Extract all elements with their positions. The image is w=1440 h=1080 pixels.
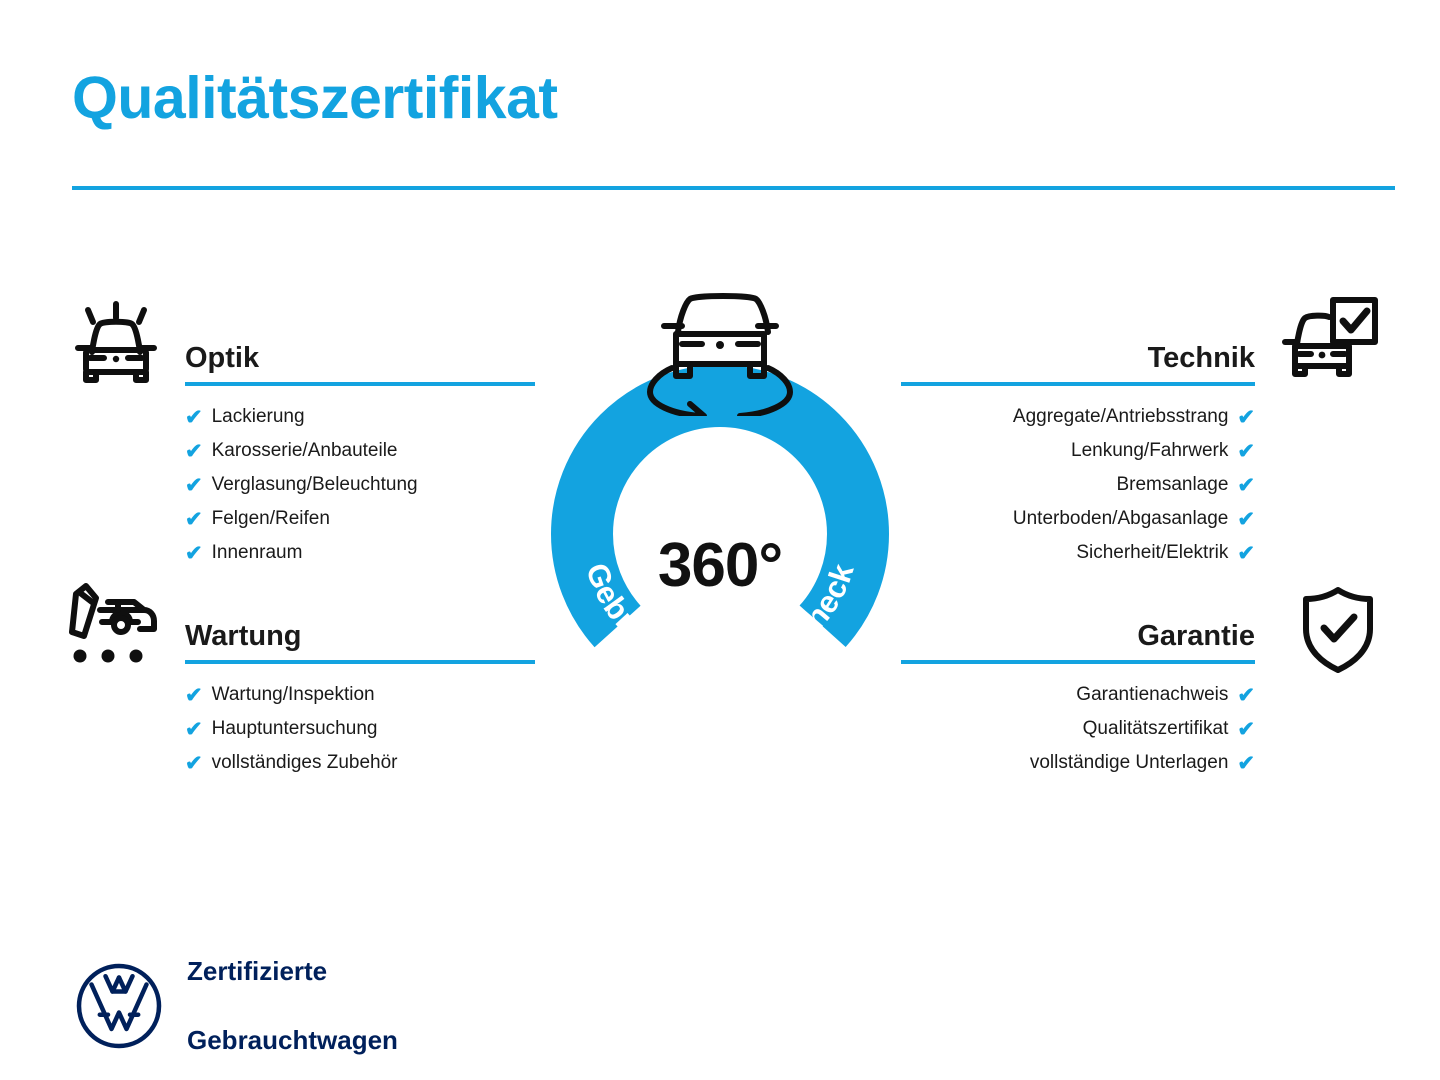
- list-item: ✔ Verglasung/Beleuchtung: [185, 468, 535, 502]
- list-item: Unterboden/Abgasanlage ✔: [901, 502, 1255, 536]
- list-item-label: Karosserie/Anbauteile: [212, 440, 398, 462]
- list-item: Qualitätszertifikat ✔: [901, 712, 1255, 746]
- section-rule-technik: [901, 382, 1255, 386]
- check-icon: ✔: [185, 753, 203, 774]
- check-icon: ✔: [1237, 475, 1255, 496]
- list-item: ✔ Innenraum: [185, 536, 535, 570]
- list-item: Bremsanlage ✔: [901, 468, 1255, 502]
- page-title: Qualitätszertifikat: [72, 68, 558, 130]
- section-title-optik: Optik: [185, 338, 535, 378]
- list-item-label: Aggregate/Antriebsstrang: [1013, 406, 1228, 428]
- section-rule-garantie: [901, 660, 1255, 664]
- list-item: Aggregate/Antriebsstrang ✔: [901, 400, 1255, 434]
- list-item: Sicherheit/Elektrik ✔: [901, 536, 1255, 570]
- list-item: Garantienachweis ✔: [901, 678, 1255, 712]
- list-item-label: Wartung/Inspektion: [212, 684, 375, 706]
- section-list-technik: Aggregate/Antriebsstrang ✔ Lenkung/Fahrw…: [901, 400, 1255, 570]
- list-item-label: Felgen/Reifen: [212, 508, 330, 530]
- list-item-label: Verglasung/Beleuchtung: [212, 474, 418, 496]
- list-item-label: Garantienachweis: [1076, 684, 1228, 706]
- list-item: Lenkung/Fahrwerk ✔: [901, 434, 1255, 468]
- section-optik: Optik ✔ Lackierung ✔ Karosserie/Anbautei…: [185, 338, 535, 570]
- list-item-label: vollständiges Zubehör: [212, 752, 398, 774]
- list-item: ✔ Karosserie/Anbauteile: [185, 434, 535, 468]
- certificate-page: Qualitätszertifikat Optik ✔ Lackierung: [0, 0, 1440, 1080]
- vw-text-line1: Zertifizierte: [187, 954, 398, 988]
- check-icon: ✔: [185, 407, 203, 428]
- section-list-optik: ✔ Lackierung ✔ Karosserie/Anbauteile ✔ V…: [185, 400, 535, 570]
- shield-check-icon: [1297, 584, 1379, 676]
- check-icon: ✔: [185, 719, 203, 740]
- check-icon: ✔: [185, 685, 203, 706]
- check-icon: ✔: [1237, 753, 1255, 774]
- section-title-wartung: Wartung: [185, 616, 535, 656]
- vw-logo: [75, 962, 163, 1050]
- car-shine-icon: [68, 296, 164, 388]
- vw-text-line2: Gebrauchtwagen: [187, 1023, 398, 1057]
- check-icon: ✔: [185, 441, 203, 462]
- check-icon: ✔: [1237, 407, 1255, 428]
- vw-certified-text: Zertifizierte Gebrauchtwagen: [187, 920, 398, 1080]
- badge-360-check: Gebrauchtwagen-Check 360°: [528, 286, 912, 690]
- section-header-garantie: Garantie: [901, 616, 1255, 664]
- list-item: ✔ Hauptuntersuchung: [185, 712, 535, 746]
- list-item-label: Bremsanlage: [1116, 474, 1228, 496]
- section-title-garantie: Garantie: [901, 616, 1255, 656]
- check-icon: ✔: [185, 475, 203, 496]
- list-item-label: Hauptuntersuchung: [212, 718, 378, 740]
- check-icon: ✔: [1237, 509, 1255, 530]
- section-technik: Technik Aggregate/Antriebsstrang ✔ Lenku…: [901, 338, 1255, 570]
- section-list-garantie: Garantienachweis ✔ Qualitätszertifikat ✔…: [901, 678, 1255, 780]
- check-icon: ✔: [1237, 719, 1255, 740]
- section-list-wartung: ✔ Wartung/Inspektion ✔ Hauptuntersuchung…: [185, 678, 535, 780]
- section-wartung: Wartung ✔ Wartung/Inspektion ✔ Hauptunte…: [185, 616, 535, 780]
- list-item-label: Lackierung: [212, 406, 305, 428]
- vw-certified-logo-block: Zertifizierte Gebrauchtwagen: [75, 920, 398, 1080]
- list-item-label: Qualitätszertifikat: [1083, 718, 1229, 740]
- section-title-technik: Technik: [901, 338, 1255, 378]
- list-item: ✔ vollständiges Zubehör: [185, 746, 535, 780]
- section-rule-wartung: [185, 660, 535, 664]
- check-icon: ✔: [185, 543, 203, 564]
- car-rotate-icon: [628, 286, 812, 416]
- section-rule-optik: [185, 382, 535, 386]
- section-header-technik: Technik: [901, 338, 1255, 386]
- title-divider: [72, 186, 1395, 190]
- check-icon: ✔: [1237, 441, 1255, 462]
- list-item: ✔ Lackierung: [185, 400, 535, 434]
- list-item: vollständige Unterlagen ✔: [901, 746, 1255, 780]
- list-item: ✔ Felgen/Reifen: [185, 502, 535, 536]
- section-header-wartung: Wartung: [185, 616, 535, 664]
- section-garantie: Garantie Garantienachweis ✔ Qualitätszer…: [901, 616, 1255, 780]
- list-item-label: Innenraum: [212, 542, 303, 564]
- list-item-label: Unterboden/Abgasanlage: [1013, 508, 1229, 530]
- check-icon: ✔: [1237, 543, 1255, 564]
- list-item: ✔ Wartung/Inspektion: [185, 678, 535, 712]
- list-item-label: Sicherheit/Elektrik: [1076, 542, 1228, 564]
- car-checkbox-icon: [1281, 292, 1379, 386]
- service-book-car-icon: [66, 580, 166, 672]
- section-header-optik: Optik: [185, 338, 535, 386]
- check-icon: ✔: [1237, 685, 1255, 706]
- check-icon: ✔: [185, 509, 203, 530]
- list-item-label: Lenkung/Fahrwerk: [1071, 440, 1228, 462]
- list-item-label: vollständige Unterlagen: [1030, 752, 1229, 774]
